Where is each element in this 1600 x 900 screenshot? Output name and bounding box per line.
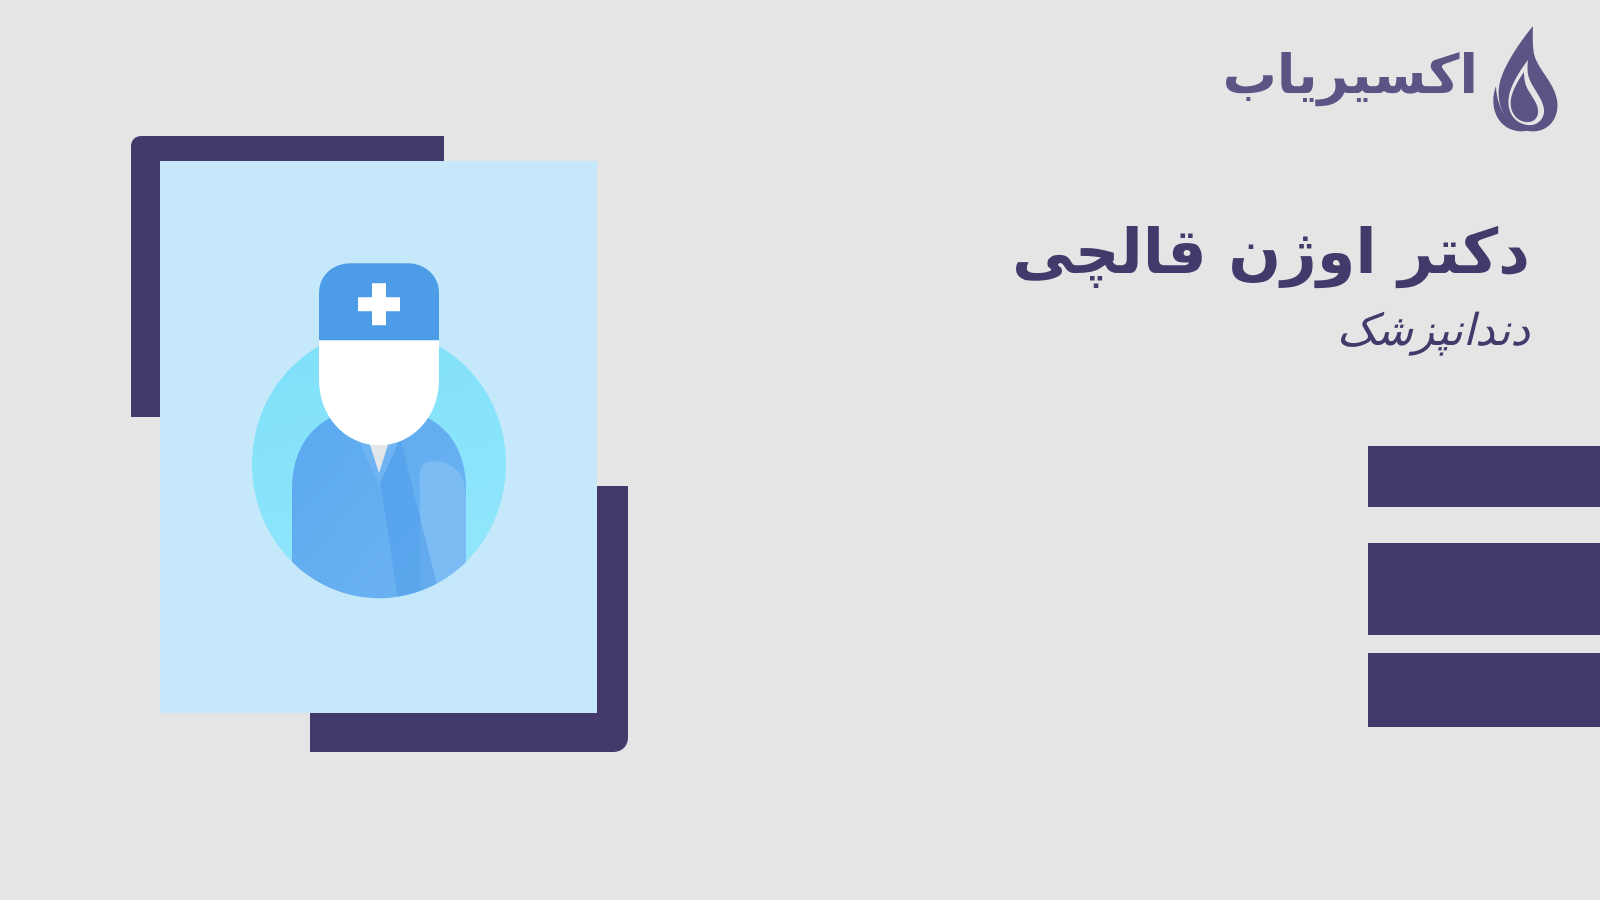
flame-drop-logo-icon [1488,24,1560,136]
avatar [248,261,510,599]
doctor-name: دکتر اوژن قالچی [750,216,1530,287]
doctor-photo-card [160,161,597,713]
brand-name-label: اکسیریاب [1223,48,1478,112]
decor-bar-3 [1368,653,1600,727]
banner-canvas: اکسیریاب دکتر اوژن قالچی دندانپزشک [0,0,1600,900]
decor-bar-1 [1368,446,1600,507]
doctor-illustration [0,0,700,900]
doctor-specialty: دندانپزشک [750,305,1530,358]
decor-bar-2 [1368,543,1600,635]
profile-text-block: دکتر اوژن قالچی دندانپزشک [750,216,1530,358]
avatar-figure-icon [248,261,510,599]
brand-logo[interactable]: اکسیریاب [1223,24,1560,136]
